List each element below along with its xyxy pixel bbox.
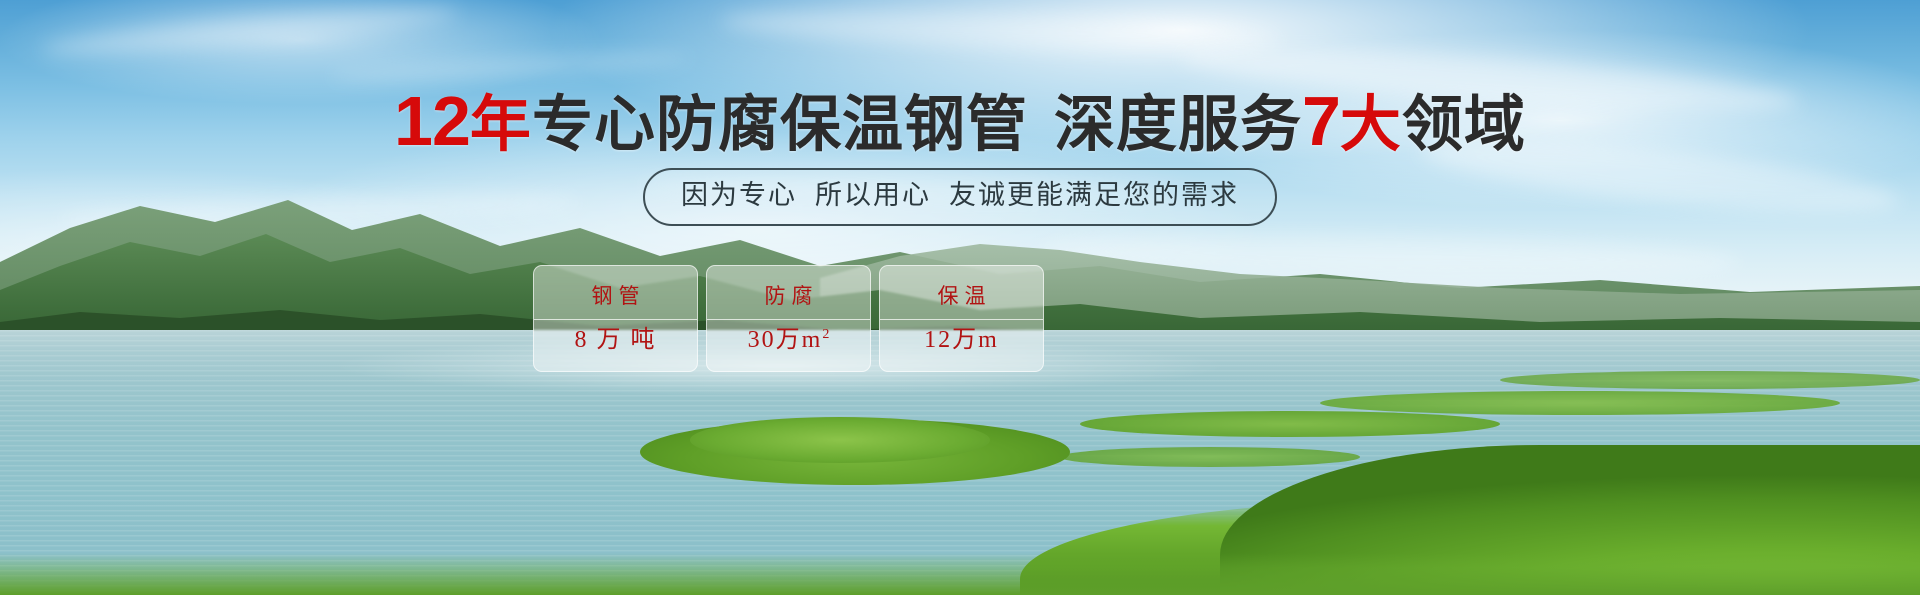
stat-card-divider xyxy=(880,319,1043,320)
headline-years-unit: 年 xyxy=(470,90,532,158)
marsh-patch xyxy=(1080,411,1500,437)
stat-card-title: 钢管 xyxy=(586,286,646,307)
headline-fields-unit: 大 xyxy=(1340,90,1402,158)
headline-service-text: 深度服务 xyxy=(1054,90,1302,158)
stat-card-value-text: 12万m xyxy=(924,327,999,353)
stat-card-steel-pipe: 钢管 8 万 吨 xyxy=(533,265,698,372)
promo-banner: 12年专心防腐保温钢管深度服务7大领域 因为专心所以用心友诚更能满足您的需求 钢… xyxy=(0,0,1920,595)
cloud-streak xyxy=(720,4,1281,58)
stat-card-group: 钢管 8 万 吨 防腐 30万m2 保温 12万m xyxy=(533,265,1044,372)
headline-fields-number: 7 xyxy=(1302,82,1340,160)
stat-card-value-text: 30万m xyxy=(748,327,823,353)
headline-years-number: 12 xyxy=(394,82,470,160)
marsh-patch xyxy=(1500,371,1920,389)
stat-card-value-text: 8 万 吨 xyxy=(575,327,657,353)
stat-card-insulation: 保温 12万m xyxy=(879,265,1044,372)
marsh-island-top xyxy=(690,417,990,463)
cloud-streak xyxy=(40,0,461,62)
cloud-streak xyxy=(330,49,690,86)
marsh-patch xyxy=(1320,391,1840,415)
subtitle-pill: 因为专心所以用心友诚更能满足您的需求 xyxy=(643,168,1277,226)
headline-fields-text: 领域 xyxy=(1402,90,1526,158)
subtitle-part-3: 友诚更能满足您的需求 xyxy=(949,180,1239,210)
stat-card-title: 保温 xyxy=(932,286,992,307)
subtitle-part-2: 所以用心 xyxy=(815,180,931,210)
stat-card-title: 防腐 xyxy=(759,286,819,307)
marsh-patch xyxy=(1060,447,1360,467)
grass-foreground-strip xyxy=(0,553,1920,595)
subtitle-part-1: 因为专心 xyxy=(681,180,797,210)
stat-card-value: 30万m2 xyxy=(748,328,830,352)
stat-card-divider xyxy=(707,319,870,320)
headline: 12年专心防腐保温钢管深度服务7大领域 xyxy=(0,86,1920,156)
subtitle-wrapper: 因为专心所以用心友诚更能满足您的需求 xyxy=(0,168,1920,226)
stat-card-value-superscript: 2 xyxy=(822,327,829,342)
stat-card-value: 12万m xyxy=(924,328,999,352)
stat-card-value: 8 万 吨 xyxy=(575,328,657,352)
headline-main-text: 专心防腐保温钢管 xyxy=(532,90,1028,158)
stat-card-divider xyxy=(534,319,697,320)
stat-card-anticorrosion: 防腐 30万m2 xyxy=(706,265,871,372)
